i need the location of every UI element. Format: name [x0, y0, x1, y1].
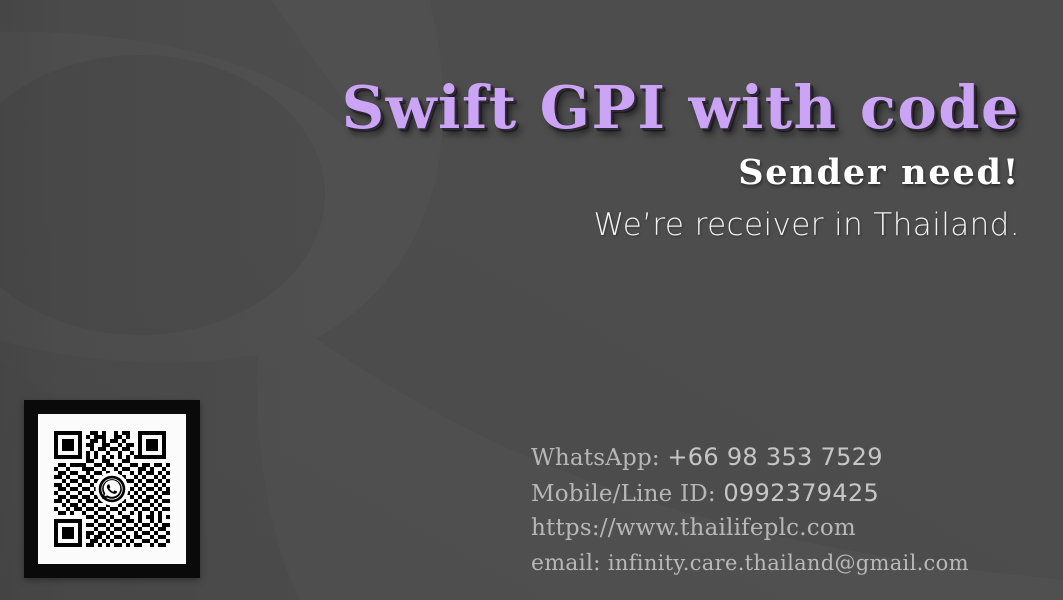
contact-line-whatsapp: WhatsApp: +66 98 353 7529 — [531, 440, 969, 476]
page-title: Swift GPI with code — [0, 0, 1020, 138]
qr-code-frame[interactable] — [24, 400, 200, 578]
mobile-line-id-number[interactable]: 0992379425 — [723, 479, 879, 507]
email-label: email: — [531, 551, 601, 576]
whatsapp-label: WhatsApp: — [531, 445, 660, 471]
whatsapp-number[interactable]: +66 98 353 7529 — [667, 443, 882, 471]
headline-tagline: We’re receiver in Thailand. — [0, 193, 1020, 243]
mobile-line-id-label: Mobile/Line ID: — [531, 481, 716, 507]
qr-code-quiet-zone — [38, 414, 186, 564]
headline-subtitle: Sender need! — [0, 138, 1020, 193]
contact-block: WhatsApp: +66 98 353 7529 Mobile/Line ID… — [531, 440, 969, 581]
headline-block: Swift GPI with code Sender need! We’re r… — [0, 0, 1020, 243]
website-url[interactable]: https://www.thailifeplc.com — [531, 515, 856, 541]
email-address[interactable]: infinity.care.thailand@gmail.com — [608, 551, 969, 575]
contact-line-email: email: infinity.care.thailand@gmail.com — [531, 546, 969, 582]
contact-line-website[interactable]: https://www.thailifeplc.com — [531, 511, 969, 546]
contact-line-mobile: Mobile/Line ID: 0992379425 — [531, 476, 969, 512]
business-card: Swift GPI with code Sender need! We’re r… — [0, 0, 1063, 600]
whatsapp-icon — [95, 472, 129, 506]
